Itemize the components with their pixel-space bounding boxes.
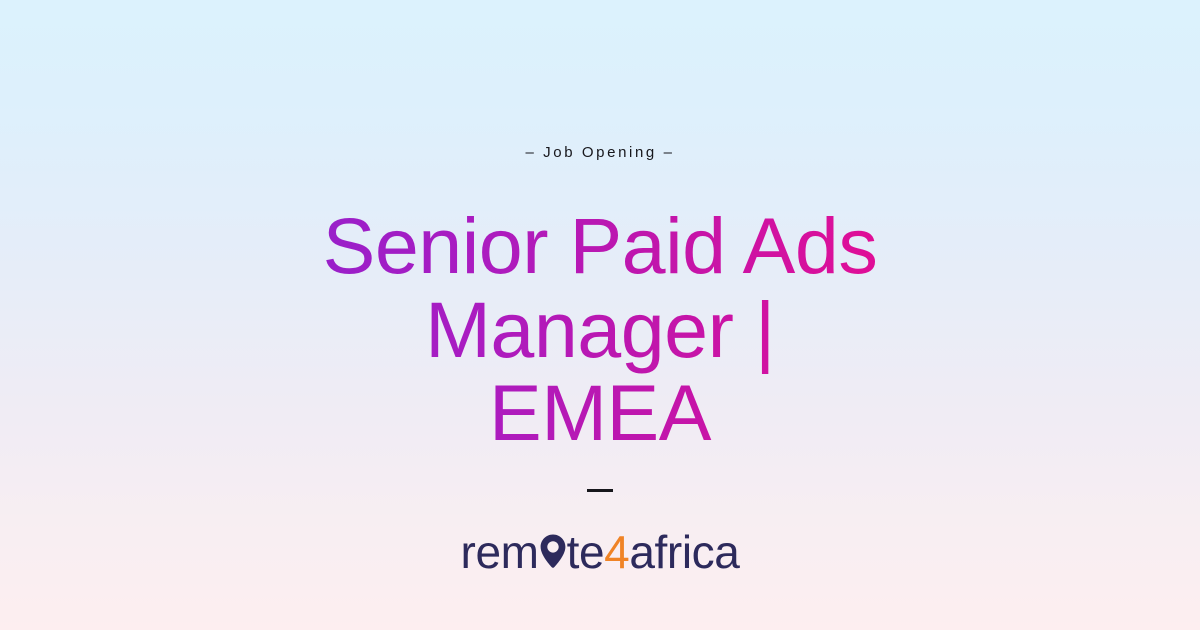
- divider: [587, 489, 613, 492]
- logo-text-segment-2: te: [567, 529, 605, 575]
- map-pin-icon: [538, 526, 568, 572]
- page-title-container: Senior Paid Ads Manager | EMEA: [180, 204, 1020, 455]
- page-title: Senior Paid Ads Manager | EMEA: [180, 204, 1020, 455]
- logo-text-segment-3: africa: [629, 529, 739, 575]
- logo-text-segment-1: rem: [461, 529, 539, 575]
- brand-logo: rem te 4 africa: [461, 522, 740, 575]
- page-title-line-2: EMEA: [489, 368, 711, 457]
- eyebrow-label: – Job Opening –: [525, 144, 674, 162]
- job-opening-card: – Job Opening – Senior Paid Ads Manager …: [0, 0, 1200, 630]
- logo-number-four: 4: [604, 529, 629, 575]
- page-title-line-1: Senior Paid Ads Manager |: [323, 201, 878, 374]
